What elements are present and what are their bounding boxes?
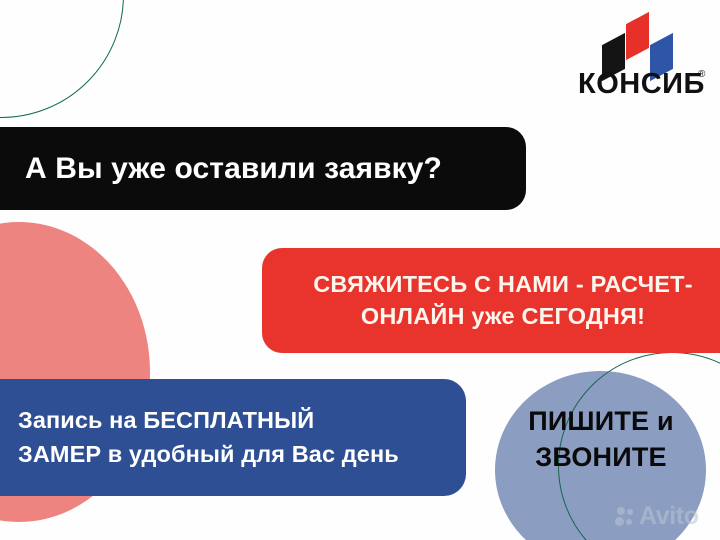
avito-watermark-text: Avito [639, 504, 699, 529]
booking-banner-line-1: Запись на БЕСПЛАТНЫЙ [18, 407, 314, 433]
decorative-circle-outline-top-left [0, 0, 124, 118]
avito-watermark: Avito [615, 504, 699, 529]
booking-banner-line-2: ЗАМЕР в удобный для Вас день [18, 441, 399, 467]
contact-banner-text: СВЯЖИТЕСЬ С НАМИ - РАСЧЕТ- ОНЛАЙН уже СЕ… [313, 269, 693, 331]
advertisement-poster: КОНСИБ ® А Вы уже оставили заявку? СВЯЖИ… [0, 0, 720, 540]
logo-parallelogram-red-icon [626, 12, 649, 60]
call-to-action-line-1: ПИШИТЕ и [528, 406, 674, 436]
logo-wordmark: КОНСИБ [578, 70, 705, 99]
call-to-action-text: ПИШИТЕ и ЗВОНИТЕ [492, 404, 710, 476]
registered-trademark-icon: ® [698, 70, 705, 80]
logo-mark-group [574, 14, 708, 72]
contact-banner-line-2: ОНЛАЙН уже СЕГОДНЯ! [361, 303, 645, 329]
contact-banner: СВЯЖИТЕСЬ С НАМИ - РАСЧЕТ- ОНЛАЙН уже СЕ… [262, 248, 720, 353]
question-banner-text: А Вы уже оставили заявку? [25, 152, 442, 185]
booking-banner-text: Запись на БЕСПЛАТНЫЙ ЗАМЕР в удобный для… [18, 404, 399, 471]
contact-banner-line-1: СВЯЖИТЕСЬ С НАМИ - РАСЧЕТ- [313, 271, 693, 297]
question-banner: А Вы уже оставили заявку? [0, 127, 526, 210]
call-to-action-line-2: ЗВОНИТЕ [535, 442, 667, 472]
avito-dots-icon [615, 507, 637, 527]
company-logo: КОНСИБ ® [574, 14, 708, 104]
booking-banner: Запись на БЕСПЛАТНЫЙ ЗАМЕР в удобный для… [0, 379, 466, 496]
